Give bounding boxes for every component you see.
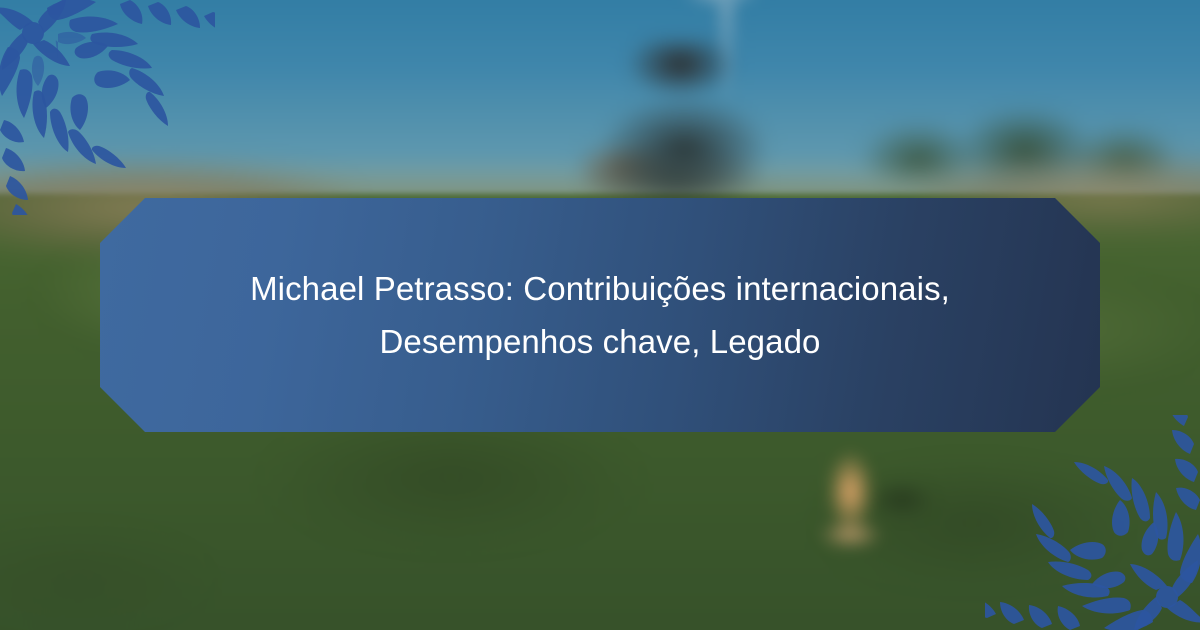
share-card: Michael Petrasso: Contribuições internac…: [0, 0, 1200, 630]
page-title: Michael Petrasso: Contribuições internac…: [205, 262, 995, 369]
title-banner: Michael Petrasso: Contribuições internac…: [100, 198, 1100, 432]
background-traffic-cone: [818, 452, 882, 546]
